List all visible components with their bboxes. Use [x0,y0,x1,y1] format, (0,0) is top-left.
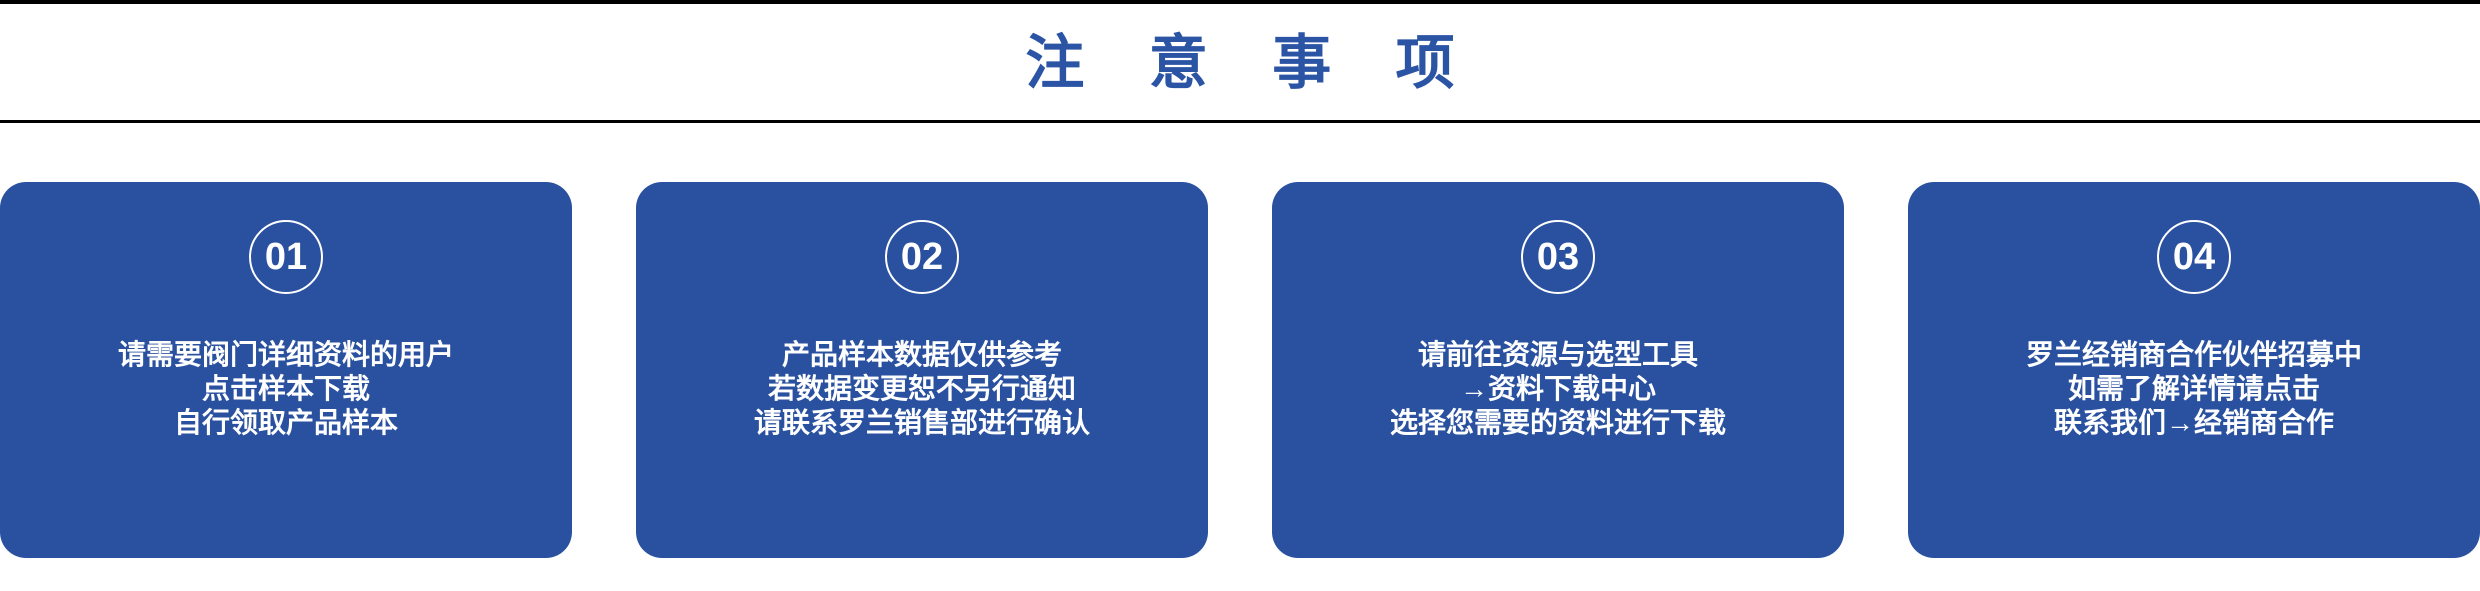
step-number-label: 01 [265,238,307,276]
notice-card-list: 01 请需要阀门详细资料的用户 点击样本下载 自行领取产品样本 02 产品样本数… [0,182,2480,558]
step-number-label: 02 [901,238,943,276]
step-number-badge-04: 04 [2157,220,2231,294]
notice-line: 点击样本下载 [202,372,370,406]
notice-line: 如需了解详情请点击 [2068,372,2320,406]
notice-line: 自行领取产品样本 [174,406,398,440]
step-number-label: 04 [2173,238,2215,276]
notice-card-text-02: 产品样本数据仅供参考 若数据变更恕不另行通知 请联系罗兰销售部进行确认 [636,338,1208,440]
notice-card-text-01: 请需要阀门详细资料的用户 点击样本下载 自行领取产品样本 [0,338,572,440]
notice-line: →资料下载中心 [1460,372,1656,406]
notice-card-04[interactable]: 04 罗兰经销商合作伙伴招募中 如需了解详情请点击 联系我们→经销商合作 [1908,182,2480,558]
step-number-badge-03: 03 [1521,220,1595,294]
notice-card-02[interactable]: 02 产品样本数据仅供参考 若数据变更恕不另行通知 请联系罗兰销售部进行确认 [636,182,1208,558]
step-number-badge-02: 02 [885,220,959,294]
notice-card-01[interactable]: 01 请需要阀门详细资料的用户 点击样本下载 自行领取产品样本 [0,182,572,558]
notice-line: 请前往资源与选型工具 [1418,338,1698,372]
header-divider-rule [0,120,2480,123]
notice-line: 选择您需要的资料进行下载 [1390,406,1726,440]
notice-card-text-03: 请前往资源与选型工具 →资料下载中心 选择您需要的资料进行下载 [1272,338,1844,440]
page-title: 注 意 事 项 [1001,34,1478,93]
notice-line: 产品样本数据仅供参考 [782,338,1062,372]
notice-card-03[interactable]: 03 请前往资源与选型工具 →资料下载中心 选择您需要的资料进行下载 [1272,182,1844,558]
notice-line: 若数据变更恕不另行通知 [768,372,1076,406]
page-header: 注 意 事 项 [0,4,2480,122]
notice-line: 请联系罗兰销售部进行确认 [754,406,1090,440]
notice-line: 联系我们→经销商合作 [2054,406,2334,440]
notice-line: 请需要阀门详细资料的用户 [118,338,454,372]
notice-card-text-04: 罗兰经销商合作伙伴招募中 如需了解详情请点击 联系我们→经销商合作 [1908,338,2480,440]
notice-line: 罗兰经销商合作伙伴招募中 [2026,338,2362,372]
step-number-label: 03 [1537,238,1579,276]
notice-page: 注 意 事 项 01 请需要阀门详细资料的用户 点击样本下载 自行领取产品样本 … [0,0,2480,591]
step-number-badge-01: 01 [249,220,323,294]
